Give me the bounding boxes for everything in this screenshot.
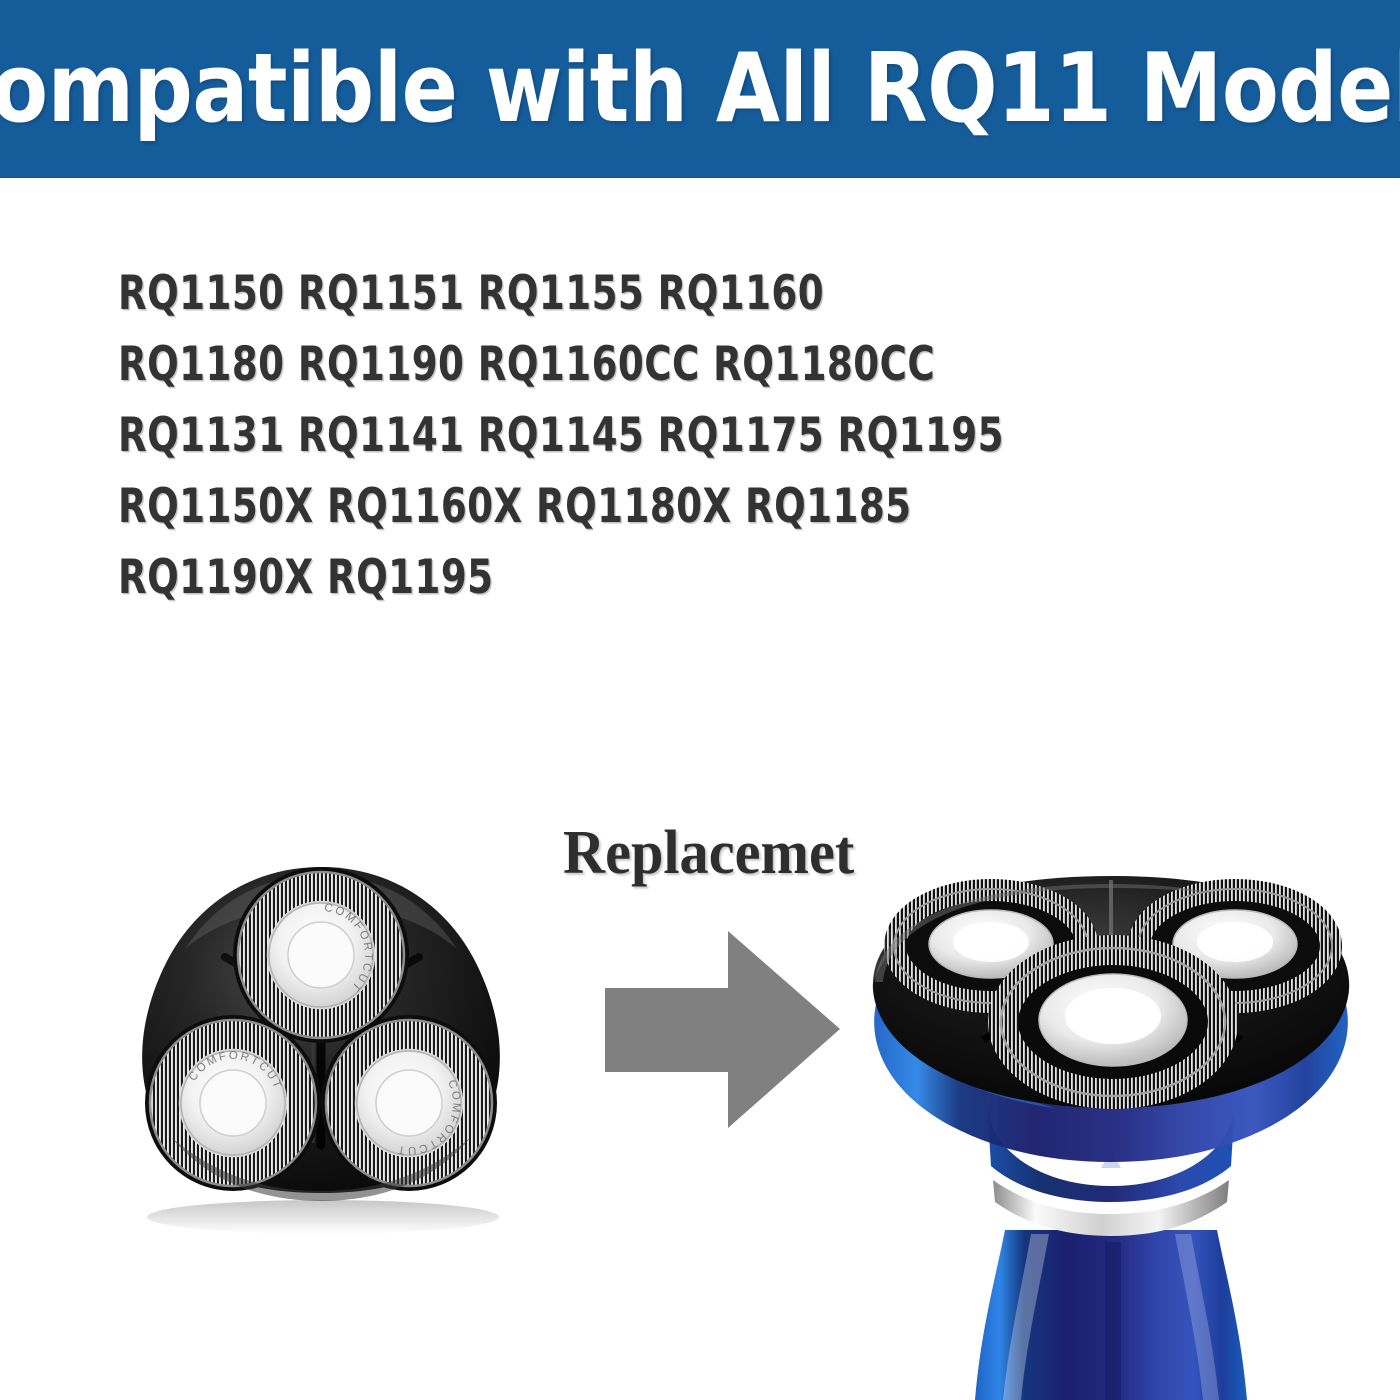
model-line: RQ1150 RQ1151 RQ1155 RQ1160: [118, 258, 1086, 329]
model-line: RQ1131 RQ1141 RQ1145 RQ1175 RQ1195: [118, 400, 1086, 471]
replacement-label: Replacemet: [563, 818, 854, 889]
header-banner: Compatible with All RQ11 Models: [0, 0, 1400, 178]
infographic-page: Compatible with All RQ11 Models RQ1150 R…: [0, 0, 1400, 1400]
cutting-head-bottom-right: COMFORTCUT: [321, 1015, 497, 1191]
page-title: Compatible with All RQ11 Models: [0, 42, 1400, 137]
replacement-shaver-head: COMFORTCUT COMFORTCUT: [75, 845, 565, 1240]
compatible-models-list: RQ1150 RQ1151 RQ1155 RQ1160 RQ1180 RQ119…: [118, 258, 1218, 613]
cutting-head-top: COMFORTCUT: [233, 867, 409, 1043]
blue-electric-shaver: [855, 850, 1365, 1400]
model-line: RQ1150X RQ1160X RQ1180X RQ1185: [118, 471, 1086, 542]
model-line: RQ1180 RQ1190 RQ1160CC RQ1180CC: [118, 329, 1086, 400]
right-arrow-icon: [600, 928, 845, 1133]
model-line: RQ1190X RQ1195: [118, 542, 1086, 613]
shaver-head-front-center: [991, 940, 1235, 1104]
cutting-head-bottom-left: COMFORTCUT: [145, 1015, 321, 1191]
